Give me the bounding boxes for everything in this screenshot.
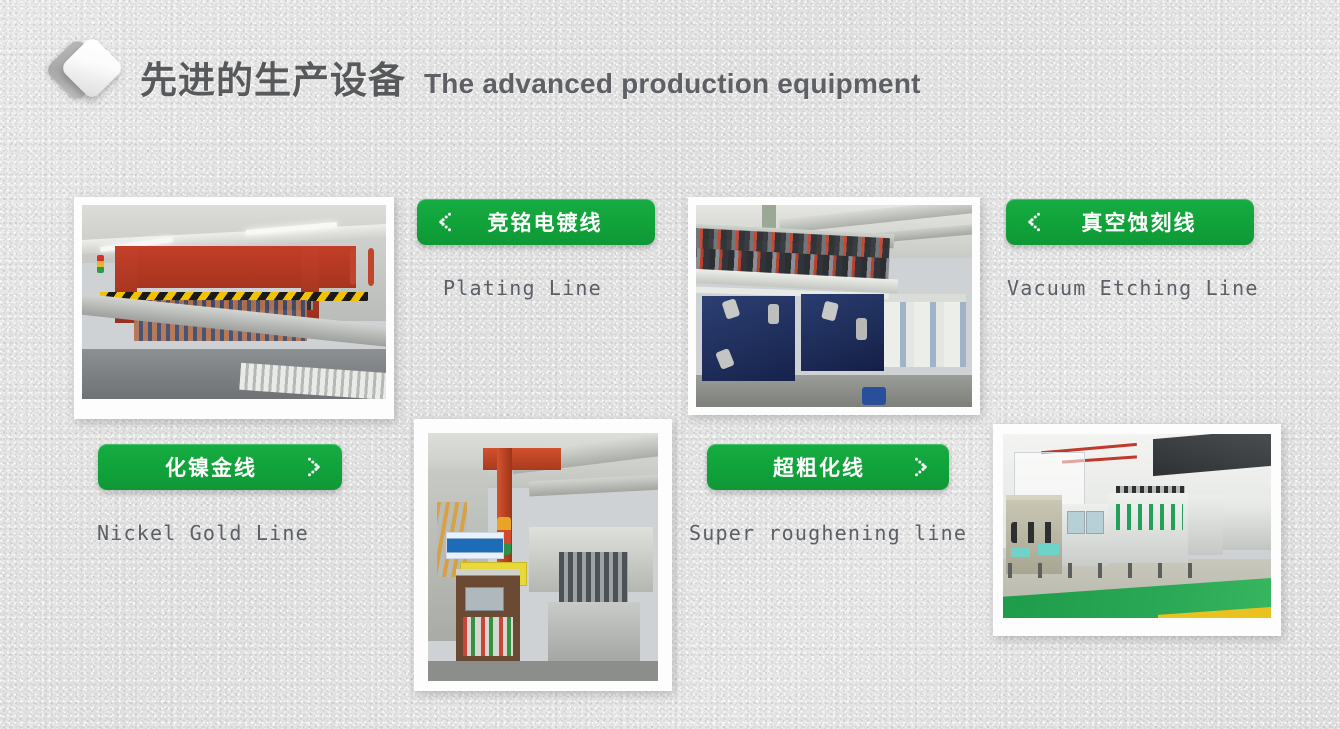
- label-button-nickel-gold-line-text: 化镍金线: [124, 452, 298, 482]
- photo-frame-plating-line: [74, 197, 394, 419]
- label-button-super-roughening-line[interactable]: 超粗化线: [707, 444, 949, 490]
- photo-frame-vacuum-etching-line: [993, 424, 1281, 636]
- caption-vacuum-etching-line: Vacuum Etching Line: [1007, 276, 1259, 300]
- page-title-chinese: 先进的生产设备: [140, 50, 406, 104]
- photo-image-nickel-gold-line: [428, 433, 658, 681]
- label-button-vacuum-etching-line-text: 真空蚀刻线: [1050, 207, 1228, 237]
- photo-image-vacuum-etching-line: [1003, 434, 1271, 618]
- label-button-plating-line[interactable]: 竞铭电镀线: [417, 199, 655, 245]
- chevron-left-dotted-icon: [1020, 207, 1050, 237]
- photo-image-super-roughening-line: [696, 205, 972, 407]
- label-button-nickel-gold-line[interactable]: 化镍金线: [98, 444, 342, 490]
- chevron-right-dotted-icon: [298, 452, 328, 482]
- caption-nickel-gold-line: Nickel Gold Line: [97, 521, 309, 545]
- label-button-vacuum-etching-line[interactable]: 真空蚀刻线: [1006, 199, 1254, 245]
- caption-plating-line: Plating Line: [443, 276, 602, 300]
- label-button-plating-line-text: 竞铭电镀线: [461, 207, 629, 237]
- slide-header: 先进的生产设备 The advanced production equipmen…: [0, 0, 1340, 140]
- photo-frame-nickel-gold-line: [414, 419, 672, 691]
- diamond-double-icon: [52, 36, 124, 108]
- photo-frame-super-roughening-line: [688, 197, 980, 415]
- photo-image-plating-line: [82, 205, 386, 399]
- page-title-english: The advanced production equipment: [424, 68, 921, 100]
- caption-super-roughening-line: Super roughening line: [689, 521, 967, 545]
- label-button-super-roughening-line-text: 超粗化线: [733, 452, 905, 482]
- chevron-right-dotted-icon: [905, 452, 935, 482]
- page-title: 先进的生产设备 The advanced production equipmen…: [140, 50, 921, 104]
- chevron-left-dotted-icon: [431, 207, 461, 237]
